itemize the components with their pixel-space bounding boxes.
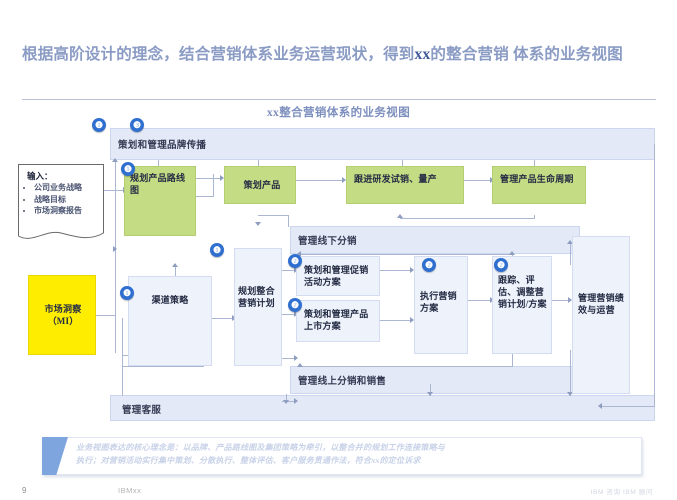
connector-arrow <box>283 400 289 404</box>
diagram-canvas: 输入： 公司业务战略 战略目标 市场洞察报告 市场洞察 （MI） 策划和管理品牌… <box>0 118 677 428</box>
connector <box>570 350 571 396</box>
box-channel-strategy-label: 渠道策略 <box>134 294 206 306</box>
band-customer-service <box>110 395 655 421</box>
input-item: 市场洞察报告 <box>34 205 82 217</box>
connector-arrow <box>297 363 303 367</box>
market-insight-line2: （MI） <box>48 316 79 326</box>
connector <box>300 254 512 255</box>
connector <box>258 215 289 216</box>
connector-arrow <box>255 222 261 226</box>
connector-arrow <box>397 214 403 218</box>
connector <box>104 190 124 191</box>
box-plan-product-label: 策划产品 <box>232 179 292 191</box>
box-follow-rd[interactable] <box>346 166 464 204</box>
connector-arrow <box>113 246 117 252</box>
connector <box>380 320 412 321</box>
input-item: 公司业务战略 <box>34 182 82 194</box>
connector <box>196 196 214 197</box>
connector <box>534 215 535 219</box>
box-promo-plan-label: 策划和管理促销活动方案 <box>304 264 376 288</box>
connector <box>654 144 655 406</box>
box-channel-strategy[interactable] <box>128 276 212 366</box>
connector <box>512 354 513 367</box>
connector <box>400 218 534 219</box>
box-product-roadmap-label: 规划产品路线图 <box>130 172 192 196</box>
connector-arrow <box>427 392 433 396</box>
connector-arrow <box>509 251 515 255</box>
band-online-label: 管理线上分销和销售 <box>298 373 386 387</box>
input-box-wave-icon <box>18 227 104 241</box>
connector-arrow <box>112 158 118 162</box>
page-title-lead: 根据高阶设计的理念，结合营销体系业务运营现状，得到 <box>22 46 415 63</box>
band-offline-label: 管理线下分销 <box>298 233 357 247</box>
connector <box>296 180 344 181</box>
band-brand-label: 策划和管理品牌传播 <box>118 137 206 151</box>
title-divider <box>22 99 656 100</box>
marker-2-track-adjust: ❷ <box>494 258 508 272</box>
box-integrated-plan-label: 规划整合营销计划 <box>238 285 278 309</box>
marker-3-brand-band: ❸ <box>130 118 144 132</box>
box-track-adjust-label: 跟踪、评估、调整营销计划/方案 <box>498 274 548 310</box>
footer-corner-mark: IBM 咨询 IBM 顾问 <box>591 486 653 496</box>
box-lifecycle[interactable] <box>492 166 586 204</box>
box-lifecycle-label: 管理产品生命周期 <box>500 173 582 185</box>
band-service-label: 管理客服 <box>122 402 161 416</box>
note-line-2: 执行；对营销活动实行集中策划、分散执行、整体评估、客户服务贯通作法，符合xx的定… <box>76 456 421 465</box>
slide: 根据高阶设计的理念，结合营销体系业务运营现状，得到xx的整合营销 体系的业务视图… <box>0 0 677 500</box>
connector-arrow <box>294 355 298 361</box>
box-execute-plan-label: 执行营销方案 <box>420 290 464 314</box>
page-title-highlight: xx <box>415 46 431 63</box>
marker-2-launch-plan: ❷ <box>288 298 302 312</box>
connector <box>570 243 571 265</box>
connector-arrow <box>172 263 178 267</box>
connector <box>288 215 289 227</box>
connector <box>300 366 512 367</box>
connector <box>213 174 214 197</box>
note-text: 业务视图表达的核心理念是：以品牌、产品路线图及集团策略为牵引，以整合并的规划工作… <box>76 442 636 467</box>
marker-1-channel-strategy: ❶ <box>120 286 134 300</box>
connector-arrow <box>598 403 602 409</box>
box-manage-performance-label: 管理营销绩效与运营 <box>578 292 626 316</box>
connector <box>96 315 116 316</box>
note-line-1: 业务视图表达的核心理念是：以品牌、产品路线图及集团策略为牵引，以整合并的规划工作… <box>76 443 445 452</box>
connector <box>464 180 492 181</box>
market-insight-line1: 市场洞察 <box>45 304 82 314</box>
marker-1-brand-band: ❶ <box>92 118 106 132</box>
marker-1-integrated-plan: ❶ <box>210 243 224 257</box>
connector <box>196 178 222 179</box>
connector-arrow <box>294 398 298 404</box>
marker-2-promo-plan: ❷ <box>288 254 302 268</box>
marker-2-execute-plan: ❷ <box>422 258 436 272</box>
connector <box>122 366 204 367</box>
connector <box>600 406 655 407</box>
marker-1-product-roadmap: ❶ <box>121 162 135 176</box>
page-title: 根据高阶设计的理念，结合营销体系业务运营现状，得到xx的整合营销 体系的业务视图 <box>22 42 656 67</box>
connector <box>380 270 412 271</box>
page-number: 9 <box>22 486 26 495</box>
footer-brand: IBMxx <box>118 486 141 495</box>
box-follow-rd-label: 跟进研发试销、量产 <box>354 173 458 185</box>
input-label: 输入： <box>27 170 53 182</box>
input-item: 战略目标 <box>34 194 82 206</box>
connector <box>115 160 116 353</box>
connector <box>212 318 234 319</box>
connector <box>122 318 123 396</box>
connector <box>468 300 492 301</box>
page-title-tail: 的整合营销 体系的业务视图 <box>430 46 622 63</box>
box-launch-plan-label: 策划和管理产品上市方案 <box>304 308 376 332</box>
market-insight-label: 市场洞察 （MI） <box>36 303 90 327</box>
input-items: 公司业务战略 战略目标 市场洞察报告 <box>24 182 82 217</box>
